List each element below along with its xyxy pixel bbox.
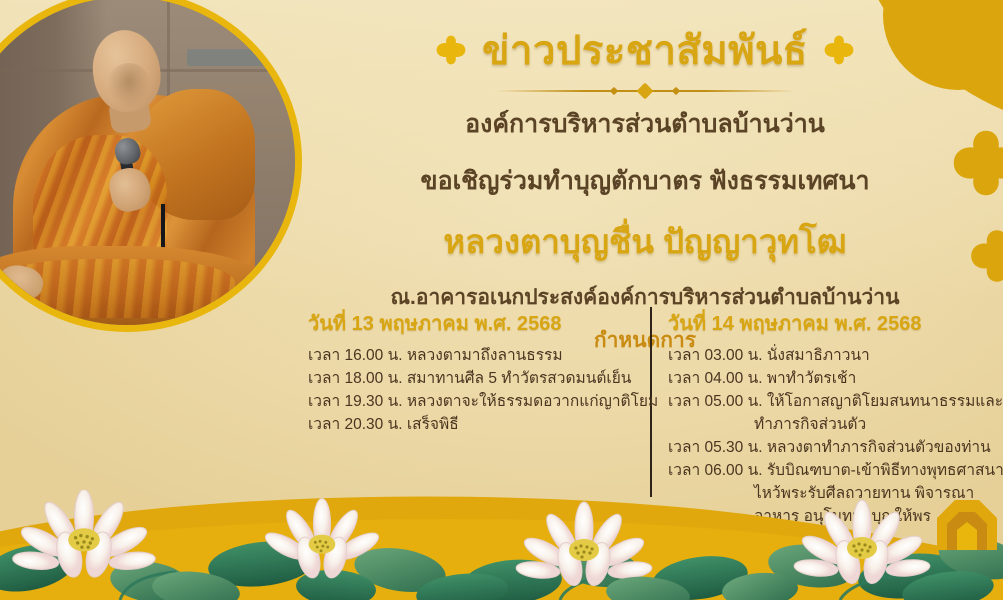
rule-diamond-small-icon <box>672 87 680 95</box>
list-item: เวลา 05.30 น. หลวงตาทำภารกิจส่วนตัวของท่… <box>668 437 990 460</box>
title-row: ข่าวประชาสัมพันธ์ <box>300 18 990 82</box>
list-item: เวลา 05.00 น. ให้โอกาสญาติโยมสนทนาธรรมแล… <box>668 391 990 414</box>
day1-heading: วันที่ 13 พฤษภาคม พ.ศ. 2568 <box>300 307 636 339</box>
list-item: เวลา 06.00 น. รับบิณฑบาต-เข้าพิธีทางพุทธ… <box>668 460 990 483</box>
monk-face-shading <box>107 63 151 109</box>
gold-corner-ornament-icon <box>931 490 1001 554</box>
monk-figure <box>0 0 295 325</box>
list-item: เวลา 20.30 น. เสร็จพิธี <box>300 414 636 437</box>
page-title: ข่าวประชาสัมพันธ์ <box>482 18 808 82</box>
list-item: เวลา 19.30 น. หลวงตาจะให้ธรรมดอวากแก่ญาต… <box>300 391 636 414</box>
rule-diamond-icon <box>637 83 654 100</box>
list-item: เวลา 04.00 น. พาทำวัตรเช้า <box>668 368 990 391</box>
photo-inner <box>0 0 295 325</box>
list-item: เวลา 03.00 น. นั่งสมาธิภาวนา <box>668 345 990 368</box>
schedule-column-day1: วันที่ 13 พฤษภาคม พ.ศ. 2568 เวลา 16.00 น… <box>300 307 650 507</box>
monk-portrait-photo <box>0 0 302 332</box>
lotus-decoration-band <box>0 490 1003 600</box>
invitation-line: ขอเชิญร่วมทำบุญตักบาตร ฟังธรรมเทศนา <box>300 161 990 201</box>
schedule-section: วันที่ 13 พฤษภาคม พ.ศ. 2568 เวลา 16.00 น… <box>300 307 990 507</box>
schedule-column-day2: วันที่ 14 พฤษภาคม พ.ศ. 2568 เวลา 03.00 น… <box>650 307 990 507</box>
announcement-poster: ข่าวประชาสัมพันธ์ องค์การบริหารส่วนตำบลบ… <box>0 0 1003 600</box>
organization-name: องค์การบริหารส่วนตำบลบ้านว่าน <box>300 104 990 144</box>
quatrefoil-flower-icon <box>436 35 466 65</box>
monk-name: หลวงตาบุญชื่น ปัญญาวุทโฒ <box>300 215 990 268</box>
rule-diamond-small-icon <box>610 87 618 95</box>
list-item: เวลา 16.00 น. หลวงตามาถึงลานธรรม <box>300 345 636 368</box>
title-decorative-rule <box>495 84 795 98</box>
quatrefoil-flower-icon <box>824 35 854 65</box>
list-item: เวลา 18.00 น. สมาทานศีล 5 ทำวัตรสวดมนต์เ… <box>300 368 636 391</box>
list-item-continuation: ทำภารกิจส่วนตัว <box>668 414 990 437</box>
day2-heading: วันที่ 14 พฤษภาคม พ.ศ. 2568 <box>668 307 990 339</box>
